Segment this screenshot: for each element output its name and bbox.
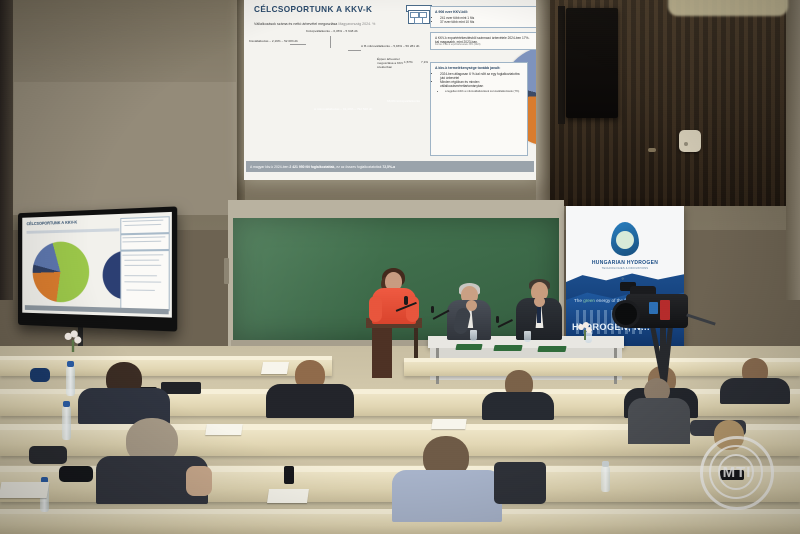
slide-box-subitem: a legjellemzőbb a mikrovállalkozások és … [445, 90, 523, 94]
water-glass [524, 331, 531, 342]
banner-org-subtitle: TECHNOLOGIES & INNOVATIONS [566, 267, 684, 270]
slide-footer-banner: A magyar kkv-k 2024-ben 2 421 950 főt fo… [246, 161, 534, 172]
pie-right-label-c: 7,1% [421, 61, 428, 65]
paper-handout [431, 419, 466, 429]
wall-edge-right [786, 0, 800, 300]
lectern-body [372, 328, 392, 378]
wall-fixing [648, 148, 656, 152]
smartphone[interactable] [284, 466, 294, 484]
camera-side-panel-blue [649, 302, 658, 314]
paper-handout [267, 489, 309, 503]
audience-body [392, 470, 502, 522]
bag [29, 446, 67, 464]
monitor-slide-title: CÉLCSOPORTUNK A KKV-K [27, 220, 78, 227]
pie-label-mikrovallalkozas: A mikrovállalkozás – 91,43% – 792 528 db [314, 108, 372, 112]
notepad [493, 345, 522, 351]
smoke-detector [679, 130, 701, 152]
water-droplet-icon [611, 222, 639, 256]
paper-handout [205, 424, 243, 435]
banner-divider-mark: ❖ [621, 276, 625, 281]
camera-pan-handle[interactable] [686, 313, 715, 325]
audience-body [720, 378, 790, 404]
water-bottle [601, 466, 610, 492]
monitor-pie-left [33, 241, 90, 303]
presenter-arm-left [369, 296, 382, 322]
press-conference-photo: CÉLCSOPORTUNK A KKV-K Vállalkozások szám… [0, 0, 800, 534]
smoke-detector-led-icon [684, 142, 688, 146]
av-control-box[interactable] [161, 382, 201, 394]
storefront-icon [406, 2, 430, 24]
ceiling-light [668, 0, 788, 16]
pie-label-kozepvallalkozas: Középvállalkozás – 0,45% – 5 648 db [306, 30, 358, 34]
loudspeaker [566, 8, 618, 118]
slide-box-item: 2024-ben átlagosan 6 %-kal nőtt az egy f… [440, 72, 523, 81]
slide-subtitle: Vállalkozások száma és nettó árbevétel m… [254, 22, 375, 26]
audience-arm [186, 466, 212, 496]
slide-box-export: A KKV-k exportértékesítésből származó ár… [430, 32, 536, 50]
camera-operator-body [628, 398, 690, 444]
speaker-bracket [558, 6, 565, 124]
wall-panel-left-lower [14, 82, 236, 215]
microphone-head [404, 296, 408, 305]
laptop[interactable] [30, 368, 50, 382]
microphone-head [496, 316, 499, 323]
panelist-right-hand [534, 296, 545, 307]
slide-box-item: Minden régióban és minden vállalkozásmér… [440, 80, 523, 89]
wall-pillar [536, 0, 550, 210]
banner-org-name: HUNGARIAN HYDROGEN [566, 260, 684, 266]
panelist-center-hand [466, 300, 477, 311]
microphone-head [431, 306, 434, 313]
monitor-screen: CÉLCSOPORTUNK A KKV-K [22, 212, 172, 318]
audience-body [482, 392, 554, 420]
desk-edge [404, 358, 800, 362]
notepad [455, 344, 482, 350]
slide-box-productivity: A kkv-k termelékenysége tovább javult: 2… [430, 62, 528, 156]
pie-label-mikro-f6: A f6 mikrovállalkozás – 5,93% – 56 281 d… [361, 45, 419, 49]
confidence-monitor[interactable]: CÉLCSOPORTUNK A KKV-K [18, 206, 177, 331]
board-side-rail [224, 258, 229, 284]
desk-row [404, 360, 800, 376]
projected-slide: CÉLCSOPORTUNK A KKV-K Vállalkozások szám… [244, 0, 536, 180]
water-bottle [62, 406, 71, 440]
mti-watermark-text: MTI [700, 464, 774, 481]
audience-body [266, 384, 354, 418]
water-bottle [66, 366, 75, 396]
slide-title: CÉLCSOPORTUNK A KKV-K [254, 5, 372, 14]
paper-handout [0, 482, 49, 498]
camera-side-panel-red [660, 300, 670, 320]
pie-right-label-kozep: 68,6% középvállalkozás [387, 100, 420, 104]
slide-box-item: 37 ezer több mint 10 fős [440, 20, 533, 24]
wall-edge-left [0, 0, 13, 300]
flower-vase [578, 324, 592, 336]
slide-box-kkv-count: A 906 ezer KKV-ből: 241 ezer több mint 1… [430, 6, 536, 28]
desk-edge [0, 356, 332, 360]
paper-handout [261, 362, 289, 374]
pie-right-label-d: 1,57% [404, 61, 413, 65]
water-glass [470, 330, 477, 341]
mti-watermark: MTI [700, 436, 774, 510]
flower-vase [65, 333, 82, 347]
shoe-or-bag [59, 466, 93, 482]
camera-lens-icon [612, 300, 640, 328]
notepad [537, 346, 566, 352]
jacket-on-seat [494, 462, 546, 504]
